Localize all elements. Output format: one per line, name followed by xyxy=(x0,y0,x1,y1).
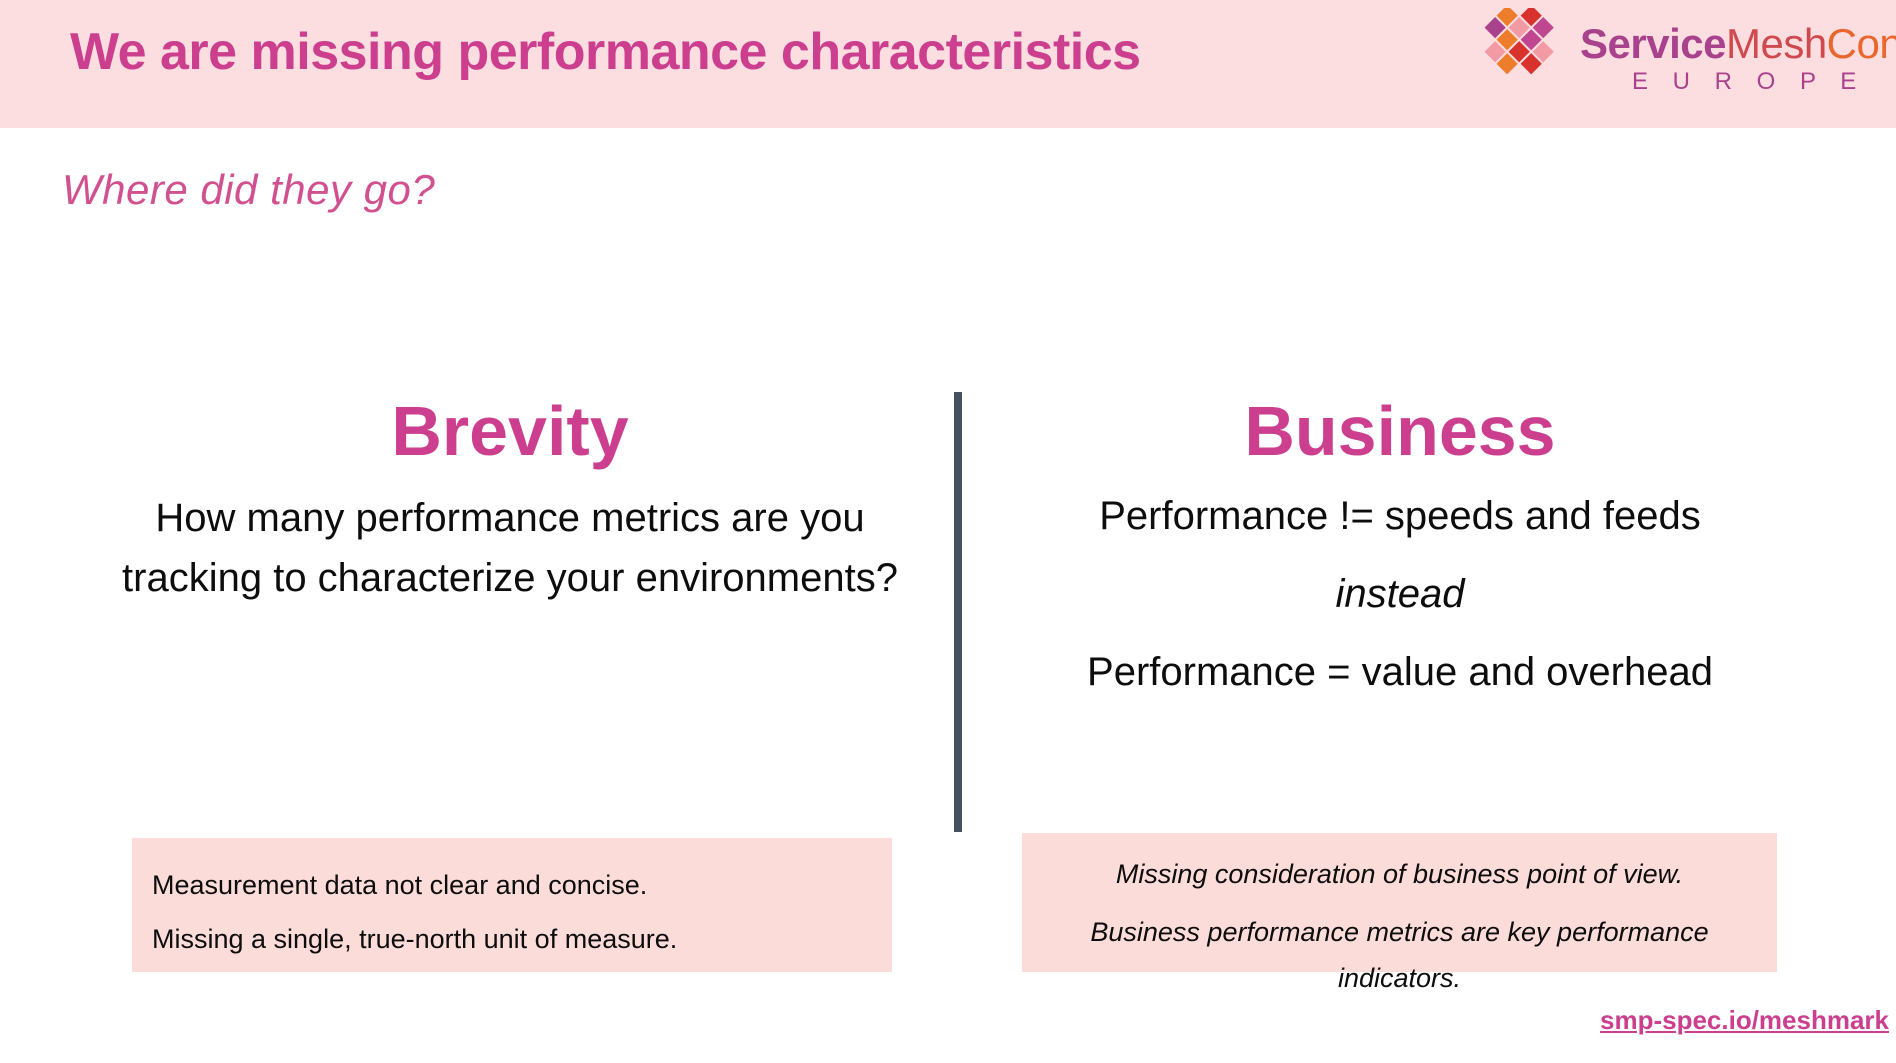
column-body-brevity: How many performance metrics are you tra… xyxy=(120,488,900,608)
logo-word-con: Con xyxy=(1827,20,1896,67)
business-line-3: Performance = value and overhead xyxy=(1010,642,1790,702)
column-heading-business: Business xyxy=(1010,390,1790,472)
column-brevity: Brevity How many performance metrics are… xyxy=(120,390,900,608)
slide-subtitle: Where did they go? xyxy=(62,166,435,214)
callout-business-line-2: Business performance metrics are key per… xyxy=(1046,909,1753,1001)
logo-word-service: Service xyxy=(1580,20,1726,67)
callout-brevity-line-1: Measurement data not clear and concise. xyxy=(152,858,872,912)
logo-region-label: E U R O P E xyxy=(1632,68,1865,96)
page-title: We are missing performance characteristi… xyxy=(70,18,1450,86)
servicemeshcon-logo: ServiceMeshCon E U R O P E xyxy=(1470,6,1880,116)
callout-business-line-1: Missing consideration of business point … xyxy=(1046,851,1753,897)
column-divider xyxy=(954,392,962,832)
column-heading-brevity: Brevity xyxy=(120,390,900,472)
column-body-business: Performance != speeds and feeds instead … xyxy=(1010,486,1790,702)
callout-box-brevity: Measurement data not clear and concise. … xyxy=(132,838,892,972)
logo-wordmark: ServiceMeshCon xyxy=(1580,20,1896,68)
callout-box-business: Missing consideration of business point … xyxy=(1022,833,1777,972)
callout-brevity-line-2: Missing a single, true-north unit of mea… xyxy=(152,912,872,966)
diamond-mesh-logo-icon xyxy=(1470,8,1574,94)
logo-word-mesh: Mesh xyxy=(1726,20,1827,67)
footer-spec-link[interactable]: smp-spec.io/meshmark xyxy=(1600,1005,1889,1036)
business-line-1: Performance != speeds and feeds xyxy=(1010,486,1790,546)
column-business: Business Performance != speeds and feeds… xyxy=(1010,390,1790,720)
business-line-2: instead xyxy=(1010,564,1790,624)
